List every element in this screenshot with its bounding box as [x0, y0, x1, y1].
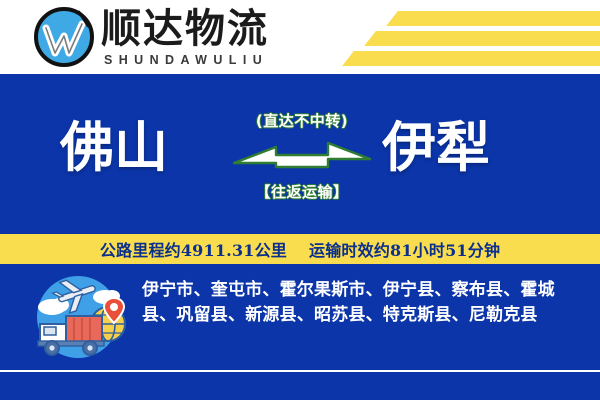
- banner-header: 顺达物流 SHUNDAWULIU: [0, 0, 600, 74]
- header-stripe-3: [342, 51, 600, 66]
- destination-city: 伊犁: [382, 116, 490, 178]
- brand-name-cn: 顺达物流: [101, 6, 269, 52]
- coverage-line-1: 伊宁市、奎屯市、霍尔果斯市、伊宁县、察布县、霍城: [142, 278, 582, 303]
- coverage-area-list: 伊宁市、奎屯市、霍尔果斯市、伊宁县、察布县、霍城 县、巩留县、新源县、昭苏县、特…: [142, 278, 582, 328]
- footer-band: [0, 372, 600, 400]
- coverage-line-2: 县、巩留县、新源县、昭苏县、特克斯县、尼勒克县: [142, 303, 582, 328]
- direct-transport-note: (直达不中转): [232, 110, 372, 131]
- delivery-truck-globe-plane-icon: [22, 272, 134, 360]
- header-stripe-1: [386, 11, 600, 26]
- header-stripes: [330, 0, 600, 74]
- route-middle-group: (直达不中转) 【往返运输】: [232, 110, 372, 202]
- origin-city: 佛山: [60, 116, 168, 178]
- route-info-strip: 公路里程约4911.31公里 运输时效约81小时51分钟: [0, 234, 600, 264]
- coverage-section: 伊宁市、奎屯市、霍尔果斯市、伊宁县、察布县、霍城 县、巩留县、新源县、昭苏县、特…: [0, 264, 600, 370]
- brand-name-en: SHUNDAWULIU: [104, 53, 268, 67]
- header-stripe-2: [364, 31, 600, 46]
- distance-text: 公路里程约4911.31公里: [100, 237, 287, 261]
- swoosh-circle-logo-icon: [33, 6, 95, 68]
- logistics-route-banner: 顺达物流 SHUNDAWULIU 佛山 (直达不中转) 【往返运输】 伊犁 公路…: [0, 0, 600, 400]
- duration-text: 运输时效约81小时51分钟: [309, 237, 500, 261]
- return-transport-note: 【往返运输】: [232, 181, 372, 202]
- bidirectional-arrow-icon: [232, 135, 372, 175]
- route-section: 佛山 (直达不中转) 【往返运输】 伊犁: [0, 74, 600, 234]
